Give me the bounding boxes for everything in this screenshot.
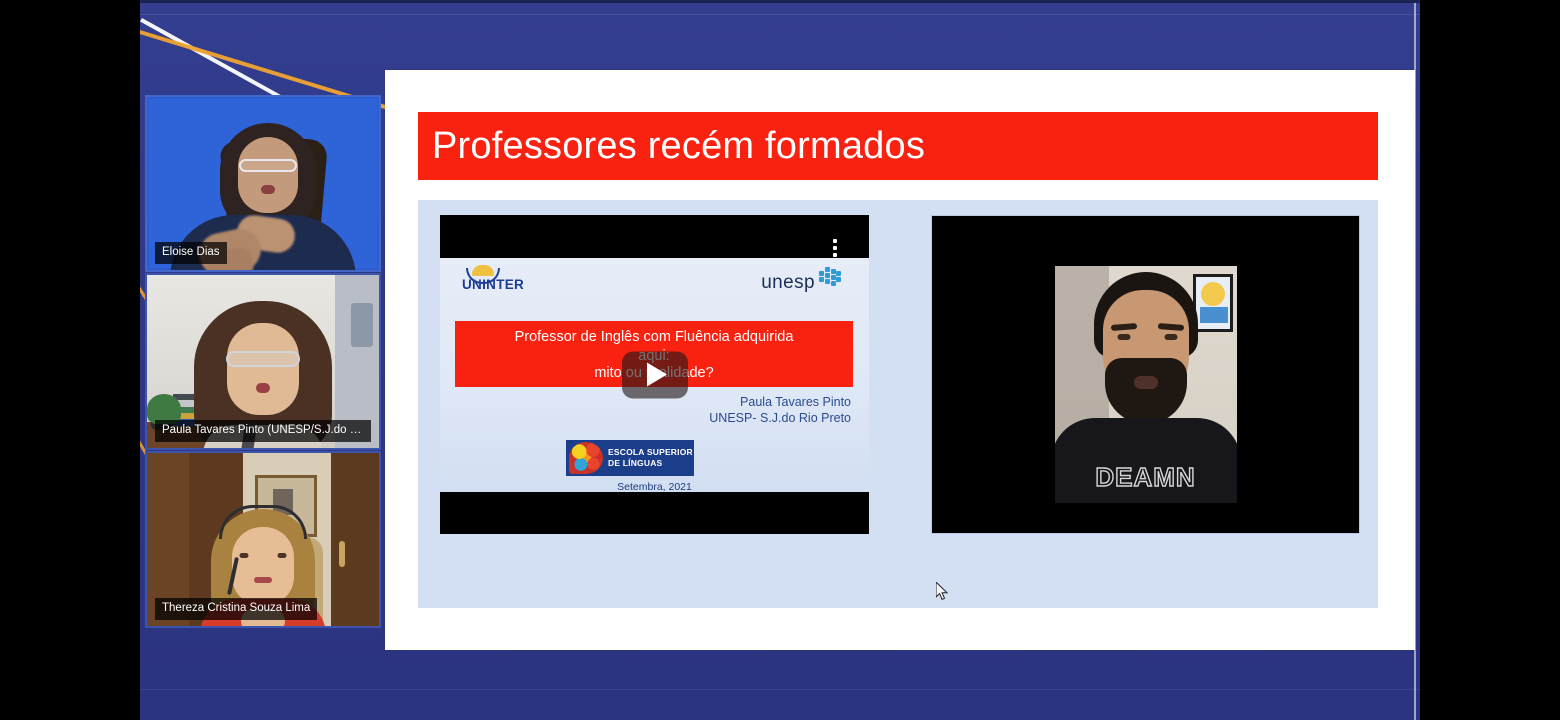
escola-logo-line-2: DE LÍNGUAS <box>608 458 693 469</box>
video-author-affiliation: UNESP- S.J.do Rio Preto <box>709 411 851 427</box>
letterbox-right <box>1420 0 1560 720</box>
video-letterbox-top <box>440 215 869 258</box>
participant-name-label: Eloise Dias <box>155 242 227 265</box>
speaker-shirt-text: DEAMN <box>1055 462 1237 493</box>
participant-filmstrip: Eloise Dias Paula Tavares P <box>145 95 385 629</box>
mouse-cursor <box>936 582 950 602</box>
participant-tile-thereza-cristina-souza-lima[interactable]: Thereza Cristina Souza Lima <box>145 451 381 628</box>
letterbox-left <box>0 0 140 720</box>
participant-tile-paula-tavares-pinto[interactable]: Paula Tavares Pinto (UNESP/S.J.do Rio ..… <box>145 273 381 450</box>
uninter-logo: UNINTER <box>462 265 524 292</box>
slide-content-area: UNINTER unesp <box>418 200 1378 608</box>
stage-bottom-divider <box>140 689 1420 690</box>
slide-title-banner: Professores recém formados <box>418 112 1378 180</box>
shared-screen-frame[interactable]: Professores recém formados UNINTER <box>385 70 1415 650</box>
video-letterbox-bottom <box>440 492 869 534</box>
speaker-video-tile[interactable]: DEAMN <box>931 215 1360 534</box>
more-options-icon[interactable] <box>833 239 837 257</box>
screen-root: Eloise Dias Paula Tavares P <box>0 0 1560 720</box>
unesp-logo-text: unesp <box>761 272 815 294</box>
participant-tile-eloise-dias[interactable]: Eloise Dias <box>145 95 381 272</box>
play-icon[interactable] <box>622 351 688 398</box>
escola-superior-de-linguas-logo: ESCOLA SUPERIOR DE LÍNGUAS <box>566 440 694 476</box>
embedded-video-player[interactable]: UNINTER unesp <box>440 215 869 534</box>
unesp-logo: unesp <box>761 267 841 294</box>
slide-title-text: Professores recém formados <box>418 125 925 168</box>
meeting-stage: Eloise Dias Paula Tavares P <box>140 0 1420 720</box>
video-author-name: Paula Tavares Pinto <box>709 395 851 411</box>
letterbox-top <box>140 0 1420 3</box>
escola-logo-line-1: ESCOLA SUPERIOR <box>608 447 693 458</box>
stage-top-divider <box>140 14 1420 15</box>
participant-name-label: Thereza Cristina Souza Lima <box>155 598 317 621</box>
participant-name-label: Paula Tavares Pinto (UNESP/S.J.do Rio ..… <box>155 420 371 443</box>
speaker-video-frame: DEAMN <box>1055 266 1237 503</box>
video-headline-line-1: Professor de Inglês com Fluência adquiri… <box>455 329 853 345</box>
video-author-block: Paula Tavares Pinto UNESP- S.J.do Rio Pr… <box>709 395 851 426</box>
unesp-logo-mark <box>817 267 841 289</box>
escola-logo-mark <box>569 442 603 474</box>
